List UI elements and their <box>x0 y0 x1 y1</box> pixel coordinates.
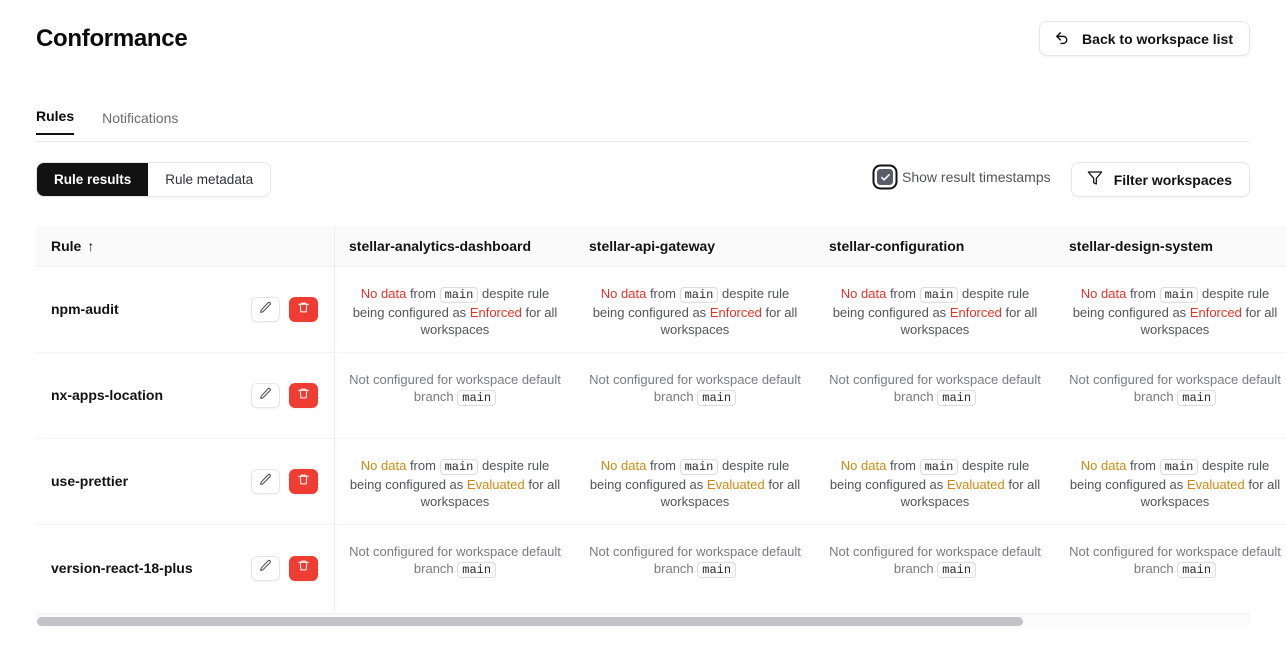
view-mode-segmented-control: Rule results Rule metadata <box>36 162 271 197</box>
rule-actions <box>251 556 318 581</box>
cell-severity-label: Evaluated <box>707 477 765 492</box>
result-cell: Not configured for workspace default bra… <box>1055 525 1286 611</box>
result-cell: No data from main despite rule being con… <box>815 439 1055 524</box>
conformance-page: Conformance Back to workspace list Rules… <box>0 0 1286 667</box>
edit-rule-button[interactable] <box>251 556 280 581</box>
rule-results-table: Rule ↑ stellar-analytics-dashboard stell… <box>36 226 1286 611</box>
cell-severity-label: Enforced <box>950 305 1002 320</box>
rule-actions <box>251 297 318 322</box>
cell-severity-label: Evaluated <box>947 477 1005 492</box>
rule-name: nx-apps-location <box>51 386 163 404</box>
segment-rule-metadata[interactable]: Rule metadata <box>148 163 270 196</box>
branch-code-badge: main <box>920 459 959 475</box>
filter-workspaces-label: Filter workspaces <box>1114 172 1232 188</box>
column-header-workspace-3[interactable]: stellar-design-system <box>1055 226 1286 266</box>
show-result-timestamps-label: Show result timestamps <box>902 169 1051 185</box>
funnel-icon <box>1087 170 1103 189</box>
branch-code-badge: main <box>920 287 959 303</box>
rule-results-table-wrapper: Rule ↑ stellar-analytics-dashboard stell… <box>36 226 1286 612</box>
rule-actions <box>251 469 318 494</box>
branch-code-badge: main <box>457 390 496 406</box>
result-cell: No data from main despite rule being con… <box>1055 267 1286 352</box>
branch-code-badge: main <box>697 562 736 578</box>
rule-cell: npm-audit <box>36 267 335 352</box>
column-header-workspace-1[interactable]: stellar-api-gateway <box>575 226 815 266</box>
pencil-icon <box>259 473 272 490</box>
pencil-icon <box>259 301 272 318</box>
trash-icon <box>297 387 310 404</box>
rule-name: use-prettier <box>51 472 128 490</box>
tabs-divider <box>36 141 1250 142</box>
horizontal-scrollbar-track[interactable] <box>36 613 1250 627</box>
page-header: Conformance Back to workspace list <box>0 0 1286 78</box>
cell-status-text: Not configured for workspace default bra… <box>1069 372 1281 404</box>
branch-code-badge: main <box>697 390 736 406</box>
show-result-timestamps-toggle[interactable]: Show result timestamps <box>874 169 1051 185</box>
branch-code-badge: main <box>457 562 496 578</box>
segment-rule-results[interactable]: Rule results <box>37 163 148 196</box>
result-cell: No data from main despite rule being con… <box>335 439 575 524</box>
rule-cell: nx-apps-location <box>36 353 335 438</box>
back-button-label: Back to workspace list <box>1082 31 1233 47</box>
cell-no-data-label: No data <box>361 286 407 301</box>
column-header-workspace-0[interactable]: stellar-analytics-dashboard <box>335 226 575 266</box>
cell-severity-label: Enforced <box>710 305 762 320</box>
table-row: use-prettierNo data from main despite ru… <box>36 439 1286 525</box>
rule-actions <box>251 383 318 408</box>
result-cell: No data from main despite rule being con… <box>575 439 815 524</box>
cell-status-text: Not configured for workspace default bra… <box>589 544 801 576</box>
branch-code-badge: main <box>440 287 479 303</box>
result-cell: No data from main despite rule being con… <box>575 267 815 352</box>
result-cell: Not configured for workspace default bra… <box>815 525 1055 611</box>
edit-rule-button[interactable] <box>251 383 280 408</box>
cell-text: from <box>890 286 916 301</box>
cell-no-data-label: No data <box>841 286 887 301</box>
column-header-rule[interactable]: Rule ↑ <box>36 226 335 266</box>
result-cell: Not configured for workspace default bra… <box>1055 353 1286 438</box>
result-cell: No data from main despite rule being con… <box>815 267 1055 352</box>
branch-code-badge: main <box>1160 287 1199 303</box>
branch-code-badge: main <box>1160 459 1199 475</box>
cell-text: from <box>410 458 436 473</box>
cell-no-data-label: No data <box>1081 286 1127 301</box>
cell-no-data-label: No data <box>1081 458 1127 473</box>
delete-rule-button[interactable] <box>289 383 318 408</box>
column-header-rule-label: Rule <box>51 238 81 254</box>
cell-text: from <box>650 286 676 301</box>
tab-rules[interactable]: Rules <box>36 108 74 135</box>
table-row: version-react-18-plusNot configured for … <box>36 525 1286 611</box>
page-title: Conformance <box>36 25 187 53</box>
filter-workspaces-button[interactable]: Filter workspaces <box>1071 162 1250 197</box>
pencil-icon <box>259 559 272 576</box>
cell-status-text: Not configured for workspace default bra… <box>589 372 801 404</box>
table-row: nx-apps-locationNot configured for works… <box>36 353 1286 439</box>
back-arrow-icon <box>1054 30 1071 47</box>
cell-no-data-label: No data <box>601 458 647 473</box>
result-cell: Not configured for workspace default bra… <box>815 353 1055 438</box>
table-header-row: Rule ↑ stellar-analytics-dashboard stell… <box>36 226 1286 267</box>
trash-icon <box>297 473 310 490</box>
result-cell: Not configured for workspace default bra… <box>575 353 815 438</box>
edit-rule-button[interactable] <box>251 469 280 494</box>
rule-name: npm-audit <box>51 300 119 318</box>
delete-rule-button[interactable] <box>289 556 318 581</box>
checkbox-checked-icon[interactable] <box>877 169 893 185</box>
cell-text: from <box>410 286 436 301</box>
branch-code-badge: main <box>937 390 976 406</box>
table-body: npm-auditNo data from main despite rule … <box>36 267 1286 611</box>
branch-code-badge: main <box>1177 390 1216 406</box>
result-cell: No data from main despite rule being con… <box>1055 439 1286 524</box>
delete-rule-button[interactable] <box>289 469 318 494</box>
cell-status-text: Not configured for workspace default bra… <box>829 372 1041 404</box>
cell-status-text: Not configured for workspace default bra… <box>829 544 1041 576</box>
rule-name: version-react-18-plus <box>51 559 193 577</box>
table-row: npm-auditNo data from main despite rule … <box>36 267 1286 353</box>
result-cell: Not configured for workspace default bra… <box>575 525 815 611</box>
cell-no-data-label: No data <box>601 286 647 301</box>
pencil-icon <box>259 387 272 404</box>
main-tabs: Rules Notifications <box>36 108 206 135</box>
result-cell: Not configured for workspace default bra… <box>335 353 575 438</box>
cell-text: from <box>650 458 676 473</box>
cell-text: from <box>1130 458 1156 473</box>
delete-rule-button[interactable] <box>289 297 318 322</box>
branch-code-badge: main <box>680 287 719 303</box>
result-cell: No data from main despite rule being con… <box>335 267 575 352</box>
column-header-workspace-2[interactable]: stellar-configuration <box>815 226 1055 266</box>
edit-rule-button[interactable] <box>251 297 280 322</box>
cell-severity-label: Evaluated <box>467 477 525 492</box>
rule-cell: use-prettier <box>36 439 335 524</box>
trash-icon <box>297 559 310 576</box>
cell-status-text: Not configured for workspace default bra… <box>1069 544 1281 576</box>
cell-text: from <box>1130 286 1156 301</box>
trash-icon <box>297 301 310 318</box>
cell-severity-label: Enforced <box>470 305 522 320</box>
branch-code-badge: main <box>1177 562 1216 578</box>
cell-status-text: Not configured for workspace default bra… <box>349 544 561 576</box>
rule-cell: version-react-18-plus <box>36 525 335 611</box>
cell-status-text: Not configured for workspace default bra… <box>349 372 561 404</box>
result-cell: Not configured for workspace default bra… <box>335 525 575 611</box>
branch-code-badge: main <box>680 459 719 475</box>
tab-notifications[interactable]: Notifications <box>102 110 178 135</box>
back-to-workspace-list-button[interactable]: Back to workspace list <box>1039 21 1250 56</box>
cell-text: from <box>890 458 916 473</box>
cell-no-data-label: No data <box>841 458 887 473</box>
cell-severity-label: Enforced <box>1190 305 1242 320</box>
branch-code-badge: main <box>440 459 479 475</box>
sort-ascending-icon: ↑ <box>87 238 94 254</box>
horizontal-scrollbar-thumb[interactable] <box>37 617 1023 626</box>
cell-severity-label: Evaluated <box>1187 477 1245 492</box>
cell-no-data-label: No data <box>361 458 407 473</box>
branch-code-badge: main <box>937 562 976 578</box>
